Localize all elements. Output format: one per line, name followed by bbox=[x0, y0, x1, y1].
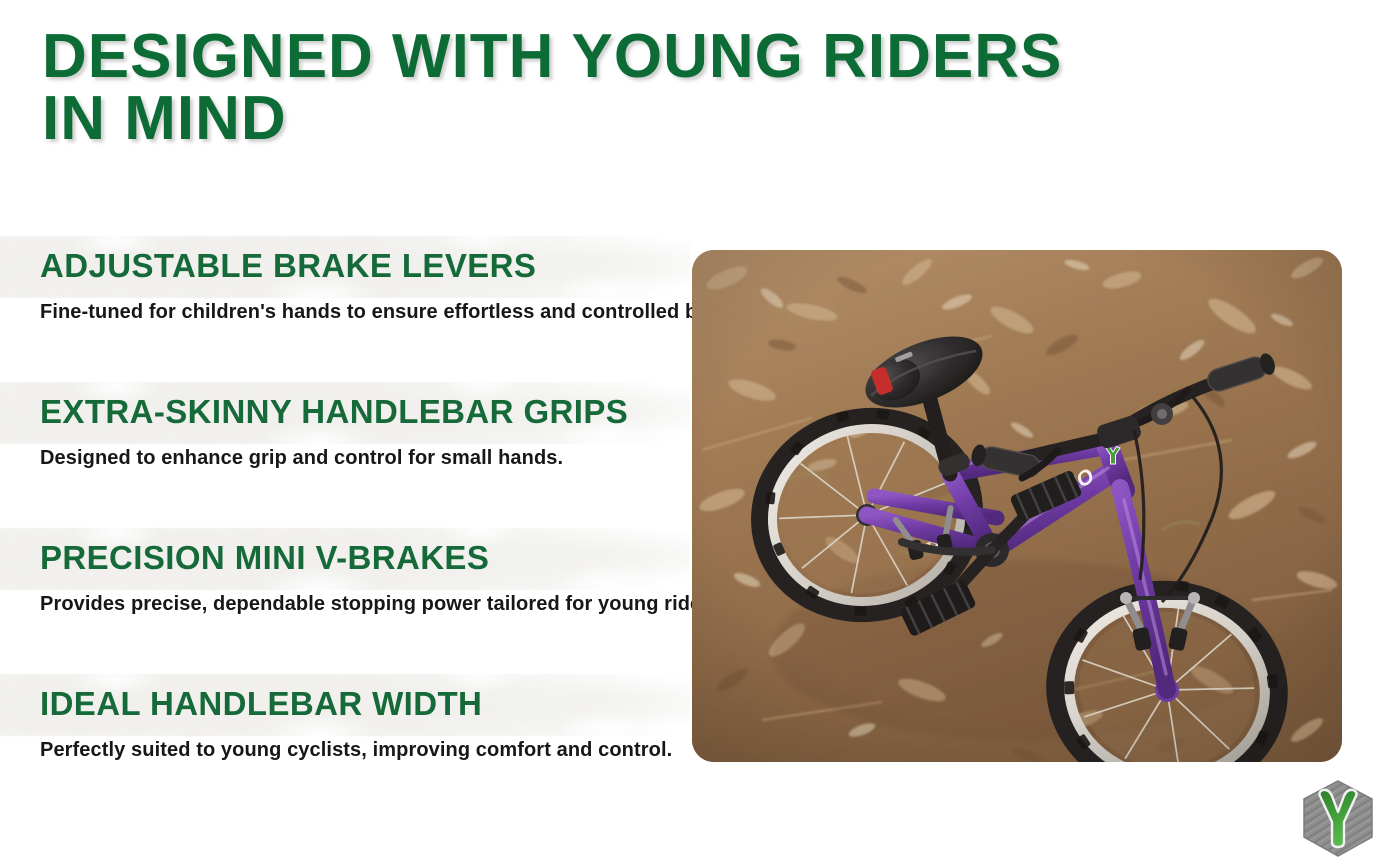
feature-description: Fine-tuned for children's hands to ensur… bbox=[40, 300, 700, 324]
promo-page: DESIGNED WITH YOUNG RIDERS IN MIND ADJUS… bbox=[0, 0, 1400, 866]
feature-item: EXTRA-SKINNY HANDLEBAR GRIPS Designed to… bbox=[0, 380, 700, 526]
page-title: DESIGNED WITH YOUNG RIDERS IN MIND bbox=[42, 28, 1002, 148]
yomo-y-logo-icon bbox=[1296, 779, 1380, 859]
feature-description: Designed to enhance grip and control for… bbox=[40, 446, 700, 470]
feature-description: Provides precise, dependable stopping po… bbox=[40, 592, 700, 616]
feature-heading: PRECISION MINI V-BRAKES bbox=[40, 526, 700, 576]
feature-heading: EXTRA-SKINNY HANDLEBAR GRIPS bbox=[40, 380, 700, 430]
feature-heading: IDEAL HANDLEBAR WIDTH bbox=[40, 672, 700, 722]
feature-item: IDEAL HANDLEBAR WIDTH Perfectly suited t… bbox=[0, 672, 700, 818]
page-title-line-1: DESIGNED WITH YOUNG RIDERS bbox=[42, 28, 1002, 86]
feature-item: ADJUSTABLE BRAKE LEVERS Fine-tuned for c… bbox=[0, 234, 700, 380]
feature-list: ADJUSTABLE BRAKE LEVERS Fine-tuned for c… bbox=[0, 234, 700, 818]
product-photo-illustration: YOMO 14 bbox=[692, 250, 1342, 762]
feature-description: Perfectly suited to young cyclists, impr… bbox=[40, 738, 700, 762]
brand-logo[interactable] bbox=[1296, 779, 1380, 859]
feature-item: PRECISION MINI V-BRAKES Provides precise… bbox=[0, 526, 700, 672]
page-title-line-2: IN MIND bbox=[42, 90, 1002, 148]
feature-heading: ADJUSTABLE BRAKE LEVERS bbox=[40, 234, 700, 284]
product-photo: YOMO 14 bbox=[692, 250, 1342, 762]
